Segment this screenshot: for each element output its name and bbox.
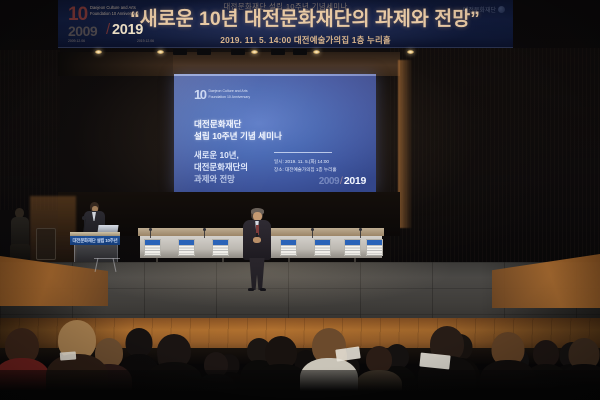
ceiling-fixture bbox=[173, 49, 187, 55]
banner-foundation-logo-text: 대전문화재단 bbox=[463, 5, 496, 14]
banner-title: “새로운 10년 대전문화재단의 과제와 전망” bbox=[130, 10, 473, 30]
ceiling-fixture bbox=[271, 49, 285, 55]
microphone-stem bbox=[312, 230, 313, 238]
lectern-microphone-icon bbox=[82, 216, 86, 220]
ceiling-light bbox=[157, 50, 164, 54]
equipment-tripod bbox=[92, 258, 122, 272]
name-placard bbox=[280, 239, 297, 256]
placard-text-lines bbox=[145, 245, 160, 256]
lectern-banner: 대전문화재단 설립 10주년 bbox=[70, 236, 120, 245]
center-speaker bbox=[240, 208, 274, 290]
placard-text-lines bbox=[315, 245, 330, 256]
name-placard bbox=[314, 239, 331, 256]
handout-paper bbox=[60, 351, 77, 360]
ceiling-light bbox=[407, 50, 414, 54]
placard-text-lines bbox=[367, 245, 382, 256]
seat-backs bbox=[0, 370, 600, 400]
banner-logo-date-left: 2009.12.06 bbox=[68, 39, 85, 43]
name-placard bbox=[366, 239, 383, 256]
banner-foundation-logo: 대전문화재단 bbox=[463, 5, 505, 14]
right-wall-texture bbox=[390, 48, 600, 263]
banner-logo-slash: / bbox=[106, 21, 110, 38]
audience bbox=[0, 300, 600, 400]
ceiling-fixture bbox=[197, 49, 211, 55]
left-wall-texture bbox=[0, 50, 60, 210]
ceiling-light bbox=[251, 50, 258, 54]
ceiling-light bbox=[95, 50, 102, 54]
center-speaker-legs bbox=[248, 258, 266, 290]
name-placard bbox=[178, 239, 195, 256]
placard-text-lines bbox=[345, 245, 360, 256]
event-banner: 10 Daejeon Culture and Arts Foundation 1… bbox=[58, 0, 513, 48]
microphone-icon bbox=[203, 228, 206, 231]
ceiling-fixture bbox=[231, 49, 245, 55]
placard-text-lines bbox=[213, 245, 228, 256]
tripod-crossbar bbox=[94, 258, 120, 259]
stage-left-attendee-body bbox=[11, 217, 29, 247]
stage-chair bbox=[36, 228, 56, 260]
handout-paper bbox=[419, 352, 450, 369]
microphone-icon bbox=[149, 228, 152, 231]
seminar-photo: 10 Daejeon Culture and Arts Foundation 1… bbox=[0, 0, 600, 400]
microphone-icon bbox=[359, 228, 362, 231]
banner-subtitle: 2019. 11. 5. 14:00 대전예술가의집 1층 누리홀 bbox=[138, 34, 473, 46]
right-wall-warm-light bbox=[398, 60, 412, 228]
lectern-banner-text: 대전문화재단 설립 10주년 bbox=[70, 238, 120, 244]
microphone-stem bbox=[204, 230, 205, 238]
placard-text-lines bbox=[281, 245, 296, 256]
name-placard bbox=[344, 239, 361, 256]
circle-logo-icon bbox=[498, 6, 505, 13]
microphone-stem bbox=[150, 230, 151, 238]
projection-screen: 10 Daejeon Culture and Arts Foundation 1… bbox=[174, 74, 376, 192]
banner-logo-year-old: 2009 bbox=[68, 23, 97, 39]
name-placard bbox=[144, 239, 161, 256]
screen-sheen bbox=[174, 74, 376, 192]
ceiling-fixture bbox=[293, 49, 307, 55]
center-speaker-hands bbox=[253, 237, 261, 243]
microphone-icon bbox=[311, 228, 314, 231]
ceiling-light-strip bbox=[95, 46, 515, 60]
placard-text-lines bbox=[179, 245, 194, 256]
name-placard bbox=[212, 239, 229, 256]
center-speaker-shoes bbox=[248, 288, 266, 291]
ceiling-light bbox=[313, 50, 320, 54]
microphone-stem bbox=[360, 230, 361, 238]
